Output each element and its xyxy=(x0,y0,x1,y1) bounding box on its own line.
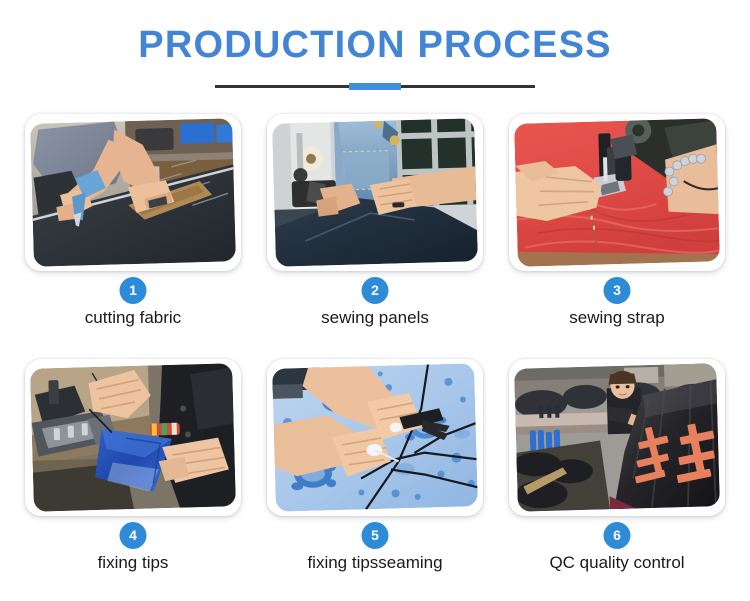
photo-frame xyxy=(25,359,241,516)
photo-frame xyxy=(267,359,483,516)
title-divider xyxy=(215,82,535,92)
step-badge: 5 xyxy=(362,522,389,549)
step-badge: 1 xyxy=(120,277,147,304)
step-badge: 6 xyxy=(604,522,631,549)
process-step-card[interactable]: 3 sewing strap xyxy=(496,110,738,355)
process-step-card[interactable]: 1 cutting fabric xyxy=(12,110,254,355)
photo-fixing-tips xyxy=(30,363,236,512)
step-badge: 2 xyxy=(362,277,389,304)
process-step-card[interactable]: 6 QC quality control xyxy=(496,355,738,600)
divider-accent xyxy=(349,83,401,90)
process-step-card[interactable]: 2 sewing panels xyxy=(254,110,496,355)
photo-cutting-fabric xyxy=(30,118,236,267)
photo-sewing-strap xyxy=(514,118,720,267)
step-caption: fixing tips xyxy=(12,553,254,573)
photo-frame xyxy=(25,114,241,271)
photo-fixing-tipsseaming xyxy=(272,363,478,512)
page-header: PRODUCTION PROCESS xyxy=(0,22,750,92)
step-caption: cutting fabric xyxy=(12,308,254,328)
process-steps-grid: 1 cutting fabric xyxy=(12,110,738,600)
step-badge: 4 xyxy=(120,522,147,549)
photo-frame xyxy=(509,114,725,271)
step-caption: sewing strap xyxy=(496,308,738,328)
photo-frame xyxy=(267,114,483,271)
step-badge: 3 xyxy=(604,277,631,304)
photo-sewing-panels xyxy=(272,118,478,267)
step-caption: QC quality control xyxy=(496,553,738,573)
step-caption: fixing tipsseaming xyxy=(254,553,496,573)
process-step-card[interactable]: 5 fixing tipsseaming xyxy=(254,355,496,600)
process-step-card[interactable]: 4 fixing tips xyxy=(12,355,254,600)
step-caption: sewing panels xyxy=(254,308,496,328)
photo-frame xyxy=(509,359,725,516)
page-title: PRODUCTION PROCESS xyxy=(0,22,750,68)
production-process-page: PRODUCTION PROCESS xyxy=(0,0,750,601)
photo-qc-quality-control xyxy=(514,363,720,512)
